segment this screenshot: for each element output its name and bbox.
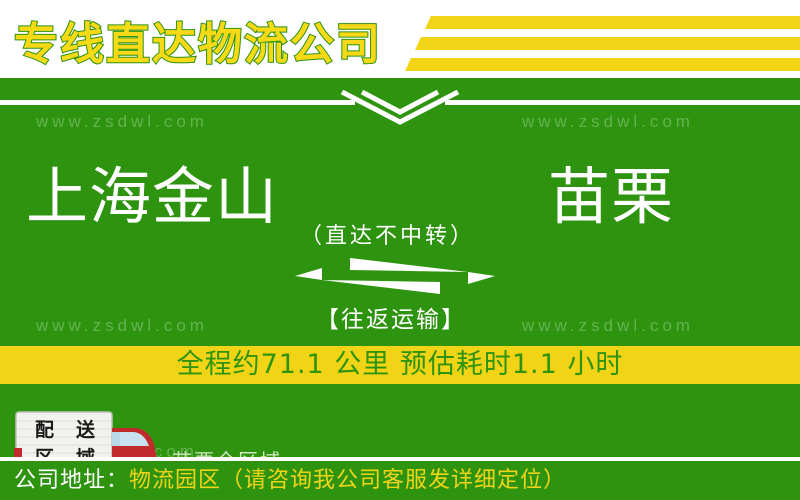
watermark: www.zsdwl.com: [522, 316, 694, 336]
company-address: 公司地址：物流园区（请咨询我公司客服发详细定位）: [14, 461, 566, 500]
top-rule-left: [0, 100, 355, 105]
destination-city: 苗栗: [548, 156, 674, 240]
distance-band: 全程约71.1 公里 预估耗时1.1 小时: [0, 346, 800, 384]
origin-city: 上海金山: [26, 156, 278, 240]
logistics-banner: 专线直达物流公司 www.zsdwl.com www.zsdwl.com www…: [0, 0, 800, 500]
banner-footer: 公司地址：物流园区（请咨询我公司客服发详细定位）: [0, 461, 800, 500]
banner-header: 专线直达物流公司: [0, 0, 800, 78]
decorative-stripe-1: [425, 16, 800, 29]
chevron-down-icon: [340, 90, 460, 126]
company-address-label: 公司地址：: [14, 468, 129, 493]
watermark: www.zsdwl.com: [36, 316, 208, 336]
truck-box-char: 配: [35, 421, 54, 440]
watermark: www.zsdwl.com: [522, 112, 694, 132]
bidirectional-arrow-icon: [290, 254, 500, 298]
page-title: 专线直达物流公司: [14, 8, 382, 72]
distance-duration-text: 全程约71.1 公里 预估耗时1.1 小时: [0, 346, 800, 384]
direct-route-note: （直达不中转）: [300, 218, 475, 250]
truck-box-char: 送: [76, 421, 95, 440]
watermark: www.zsdwl.com: [36, 112, 208, 132]
round-trip-note: 【往返运输】: [316, 300, 466, 334]
decorative-stripe-3: [405, 58, 800, 71]
company-address-value: 物流园区（请咨询我公司客服发详细定位）: [129, 468, 566, 493]
top-rule-right: [445, 100, 800, 105]
banner-body: www.zsdwl.com www.zsdwl.com www.zsdwl.co…: [0, 78, 800, 500]
decorative-stripe-2: [415, 37, 800, 50]
